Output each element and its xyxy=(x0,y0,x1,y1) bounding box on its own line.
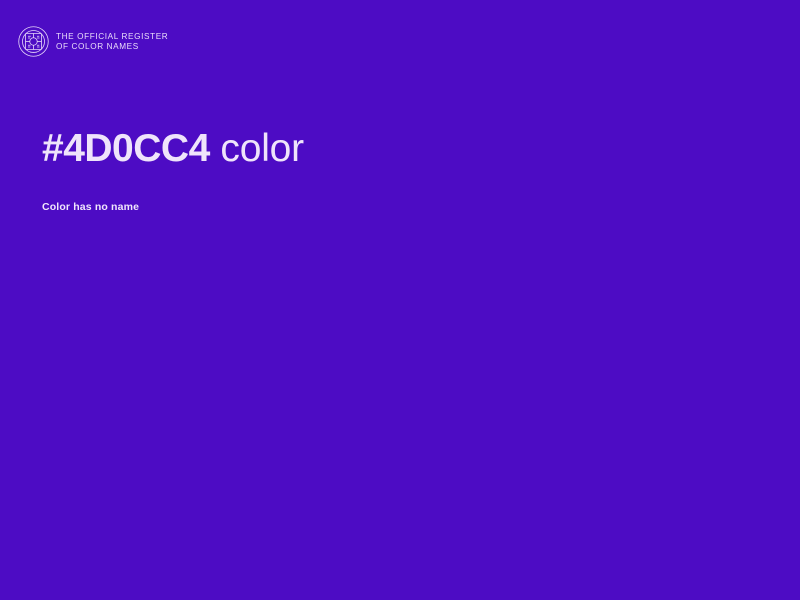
color-name-status: Color has no name xyxy=(42,172,742,214)
color-hex-value: #4D0CC4 xyxy=(42,127,210,170)
brand-wordmark: THE OFFICIAL REGISTER OF COLOR NAMES xyxy=(56,31,168,53)
page-title: #4D0CC4 color xyxy=(42,126,742,172)
brand-line-2: OF COLOR NAMES xyxy=(56,42,168,53)
page-title-suffix: color xyxy=(210,127,304,170)
color-page: THE OFFICIAL REGISTER OF COLOR NAMES #4D… xyxy=(0,0,800,600)
brand-line-1: THE OFFICIAL REGISTER xyxy=(56,32,168,43)
register-seal-icon xyxy=(18,26,49,57)
brand-header[interactable]: THE OFFICIAL REGISTER OF COLOR NAMES xyxy=(18,26,168,57)
page-title-suffix-text: color xyxy=(220,127,304,170)
color-info: #4D0CC4 color Color has no name xyxy=(42,126,742,214)
